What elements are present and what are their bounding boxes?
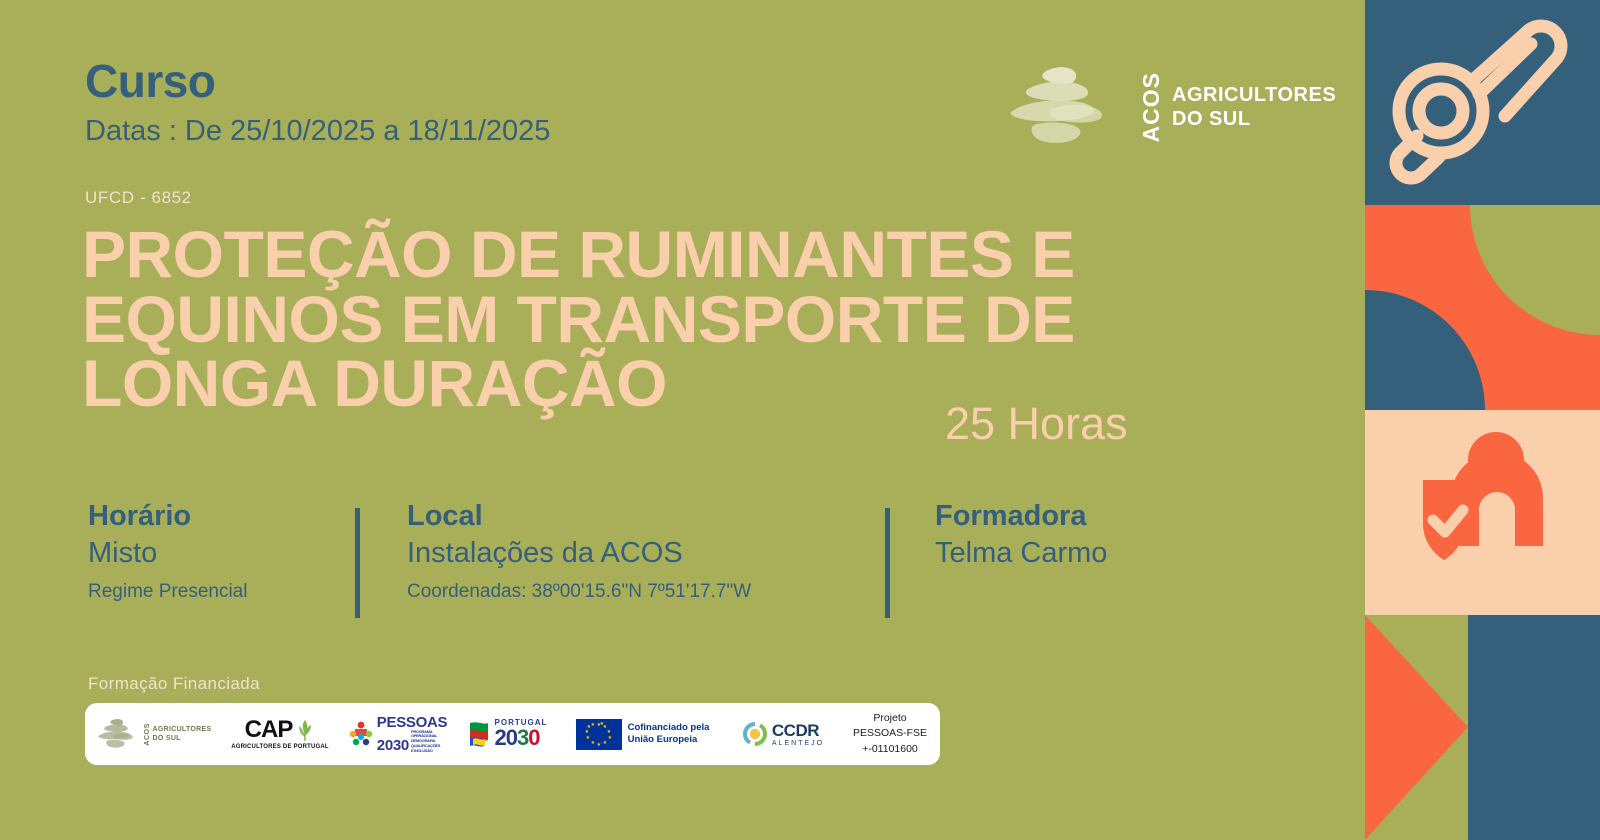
- course-title-line-1: PROTEÇÃO DE RUMINANTES E: [82, 222, 1202, 287]
- funding-acos-acronym: ACOS: [144, 723, 151, 746]
- funding-label: Formação Financiada: [88, 674, 260, 694]
- pessoas-year: 2030: [377, 738, 409, 753]
- decor-block-chainsaw: [1365, 0, 1600, 205]
- info-value-formadora: Telma Carmo: [935, 535, 1265, 573]
- wheat-leaf-icon: [295, 718, 315, 742]
- info-divider-1: [355, 508, 360, 618]
- info-value-horario: Misto: [88, 535, 338, 573]
- info-column-local: Local Instalações da ACOS Coordenadas: 3…: [407, 500, 907, 605]
- portugal-year-b: 3: [517, 725, 528, 750]
- course-info-row: Horário Misto Regime Presencial Local In…: [85, 500, 1265, 625]
- pessoas-people-icon: [348, 720, 374, 748]
- info-label-formadora: Formadora: [935, 500, 1265, 533]
- ufcd-code: UFCD - 6852: [85, 188, 192, 208]
- acos-line-1: AGRICULTORES: [1172, 83, 1336, 107]
- cap-word: CAP: [245, 718, 293, 742]
- ccdr-sub: ALENTEJO: [772, 740, 824, 747]
- funding-logo-pessoas2030: PESSOAS 2030 PROGRAMA OPERACIONAL DEMOGR…: [340, 703, 455, 765]
- funding-logo-ccdr: CCDR ALENTEJO: [725, 703, 840, 765]
- curso-label: Curso: [85, 58, 550, 104]
- info-column-horario: Horário Misto Regime Presencial: [88, 500, 338, 605]
- acos-brand-logo: ACOS AGRICULTORES DO SUL: [1000, 62, 1336, 152]
- funding-project-code: Projeto PESSOAS-FSE +-01101600: [840, 703, 940, 765]
- chainsaw-icon: [1379, 14, 1579, 194]
- decor-block-orange-curves: [1365, 205, 1600, 410]
- course-poster: Curso Datas : De 25/10/2025 a 18/11/2025…: [0, 0, 1600, 840]
- decor-navy-quarter-circle: [1365, 290, 1485, 410]
- decor-navy-column: [1468, 615, 1600, 840]
- info-sub-horario: Regime Presencial: [88, 579, 338, 605]
- worker-shield-check-icon: [1393, 428, 1573, 593]
- project-line-3: +-01101600: [853, 742, 927, 757]
- funding-logo-portugal2030: PORTUGAL 2030: [455, 703, 560, 765]
- info-column-formadora: Formadora Telma Carmo: [935, 500, 1265, 573]
- project-line-1: Projeto: [853, 711, 927, 726]
- info-sub-coordenadas: Coordenadas: 38º00'15.6"N 7º51'17.7"W: [407, 579, 907, 605]
- course-title: PROTEÇÃO DE RUMINANTES E EQUINOS EM TRAN…: [82, 222, 1202, 416]
- project-line-2: PESSOAS-FSE: [853, 726, 927, 741]
- acos-swirl-icon: [1000, 62, 1120, 152]
- decor-green-quarter-circle: [1470, 205, 1600, 335]
- info-label-horario: Horário: [88, 500, 338, 533]
- portugal-flag-icon: [468, 719, 492, 749]
- decor-triangle-upper: [1365, 615, 1468, 727]
- pessoas-tiny-text: PROGRAMA OPERACIONAL DEMOGRAFIA QUALIFIC…: [411, 730, 437, 754]
- acos-line-2: DO SUL: [1172, 107, 1336, 131]
- course-header: Curso Datas : De 25/10/2025 a 18/11/2025: [85, 58, 550, 152]
- decor-block-worker: [1365, 410, 1600, 615]
- eu-flag-icon: ★ ★ ★ ★ ★ ★ ★ ★ ★ ★ ★ ★: [576, 719, 622, 750]
- decor-triangle-lower: [1365, 727, 1468, 840]
- decor-block-triangles: [1365, 615, 1600, 840]
- decorative-panel: [1365, 0, 1600, 840]
- ccdr-word: CCDR: [772, 722, 824, 739]
- course-title-line-2: EQUINOS EM TRANSPORTE DE: [82, 287, 1202, 352]
- funding-logo-bar: ACOS AGRICULTORES DO SUL CAP: [85, 703, 940, 765]
- acos-acronym: ACOS: [1138, 72, 1165, 142]
- eu-line-1: Cofinanciado pela: [628, 722, 710, 734]
- course-dates: Datas : De 25/10/2025 a 18/11/2025: [85, 110, 550, 152]
- funding-acos-line-2: DO SUL: [153, 734, 212, 743]
- funding-logo-cap: CAP AGRICULTORES DE PORTUGAL: [220, 703, 340, 765]
- info-label-local: Local: [407, 500, 907, 533]
- eu-line-2: União Europeia: [628, 734, 710, 746]
- info-value-local: Instalações da ACOS: [407, 535, 907, 573]
- portugal-year-c: 0: [528, 725, 539, 750]
- pessoas-word: PESSOAS: [377, 715, 447, 730]
- acos-swirl-icon-small: [94, 717, 140, 751]
- poster-content: Curso Datas : De 25/10/2025 a 18/11/2025…: [0, 0, 1365, 840]
- course-duration: 25 Horas: [945, 398, 1128, 450]
- ccdr-circle-icon: [741, 720, 769, 748]
- decor-triangle-column: [1365, 615, 1468, 840]
- cap-sub: AGRICULTORES DE PORTUGAL: [231, 744, 329, 750]
- funding-logo-acos: ACOS AGRICULTORES DO SUL: [85, 703, 220, 765]
- funding-acos-line-1: AGRICULTORES: [153, 725, 212, 734]
- funding-logo-eu: ★ ★ ★ ★ ★ ★ ★ ★ ★ ★ ★ ★ Cofinancia: [560, 703, 725, 765]
- portugal-year-a: 20: [495, 725, 517, 750]
